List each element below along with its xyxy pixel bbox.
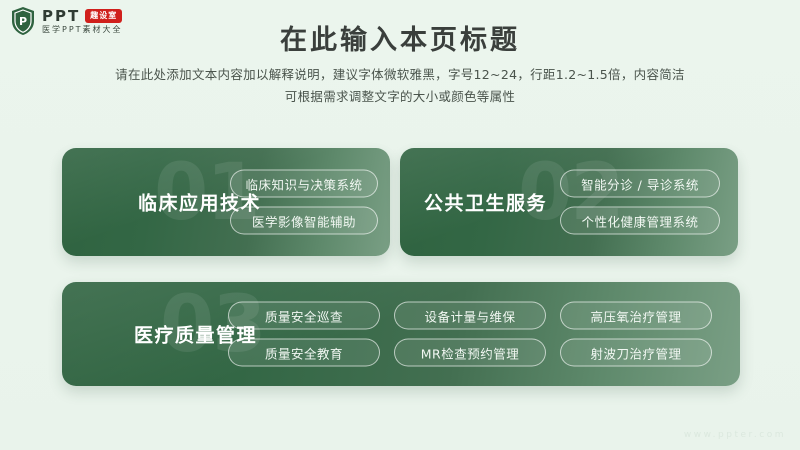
card-clinical-application[interactable]: 01 临床应用技术 临床知识与决策系统 医学影像智能辅助 — [62, 148, 390, 256]
pill-item[interactable]: 个性化健康管理系统 — [560, 207, 720, 235]
card-pill-column: 临床知识与决策系统 医学影像智能辅助 — [230, 170, 378, 235]
pill-item[interactable]: 医学影像智能辅助 — [230, 207, 378, 235]
subtitle-line-1: 请在此处添加文本内容加以解释说明，建议字体微软雅黑，字号12~24，行距1.2~… — [0, 64, 800, 86]
card-medical-quality-management[interactable]: 03 医疗质量管理 质量安全巡查 质量安全教育 设备计量与维保 MR检查预约管理… — [62, 282, 740, 386]
card-pill-column: 高压氧治疗管理 射波刀治疗管理 — [560, 302, 712, 367]
footer-watermark: www.ppter.com — [684, 430, 786, 440]
page-title: 在此输入本页标题 — [0, 18, 800, 57]
card-pill-column: 智能分诊 / 导诊系统 个性化健康管理系统 — [560, 170, 720, 235]
card-title: 公共卫生服务 — [424, 189, 547, 216]
card-pill-column: 设备计量与维保 MR检查预约管理 — [394, 302, 546, 367]
pill-item[interactable]: 设备计量与维保 — [394, 302, 546, 330]
pill-item[interactable]: 射波刀治疗管理 — [560, 339, 712, 367]
pill-item[interactable]: 智能分诊 / 导诊系统 — [560, 170, 720, 198]
card-public-health-service[interactable]: 02 公共卫生服务 智能分诊 / 导诊系统 个性化健康管理系统 — [400, 148, 738, 256]
pill-item[interactable]: 高压氧治疗管理 — [560, 302, 712, 330]
pill-item[interactable]: 质量安全巡查 — [228, 302, 380, 330]
subtitle-line-2: 可根据需求调整文字的大小或颜色等属性 — [0, 86, 800, 108]
pill-item[interactable]: 质量安全教育 — [228, 339, 380, 367]
page-subtitle: 请在此处添加文本内容加以解释说明，建议字体微软雅黑，字号12~24，行距1.2~… — [0, 64, 800, 108]
slide-canvas: P PPT 趣设室 医学PPT素材大全 在此输入本页标题 请在此处添加文本内容加… — [0, 0, 800, 450]
pill-item[interactable]: 临床知识与决策系统 — [230, 170, 378, 198]
card-pill-column: 质量安全巡查 质量安全教育 — [228, 302, 380, 367]
pill-item[interactable]: MR检查预约管理 — [394, 339, 546, 367]
